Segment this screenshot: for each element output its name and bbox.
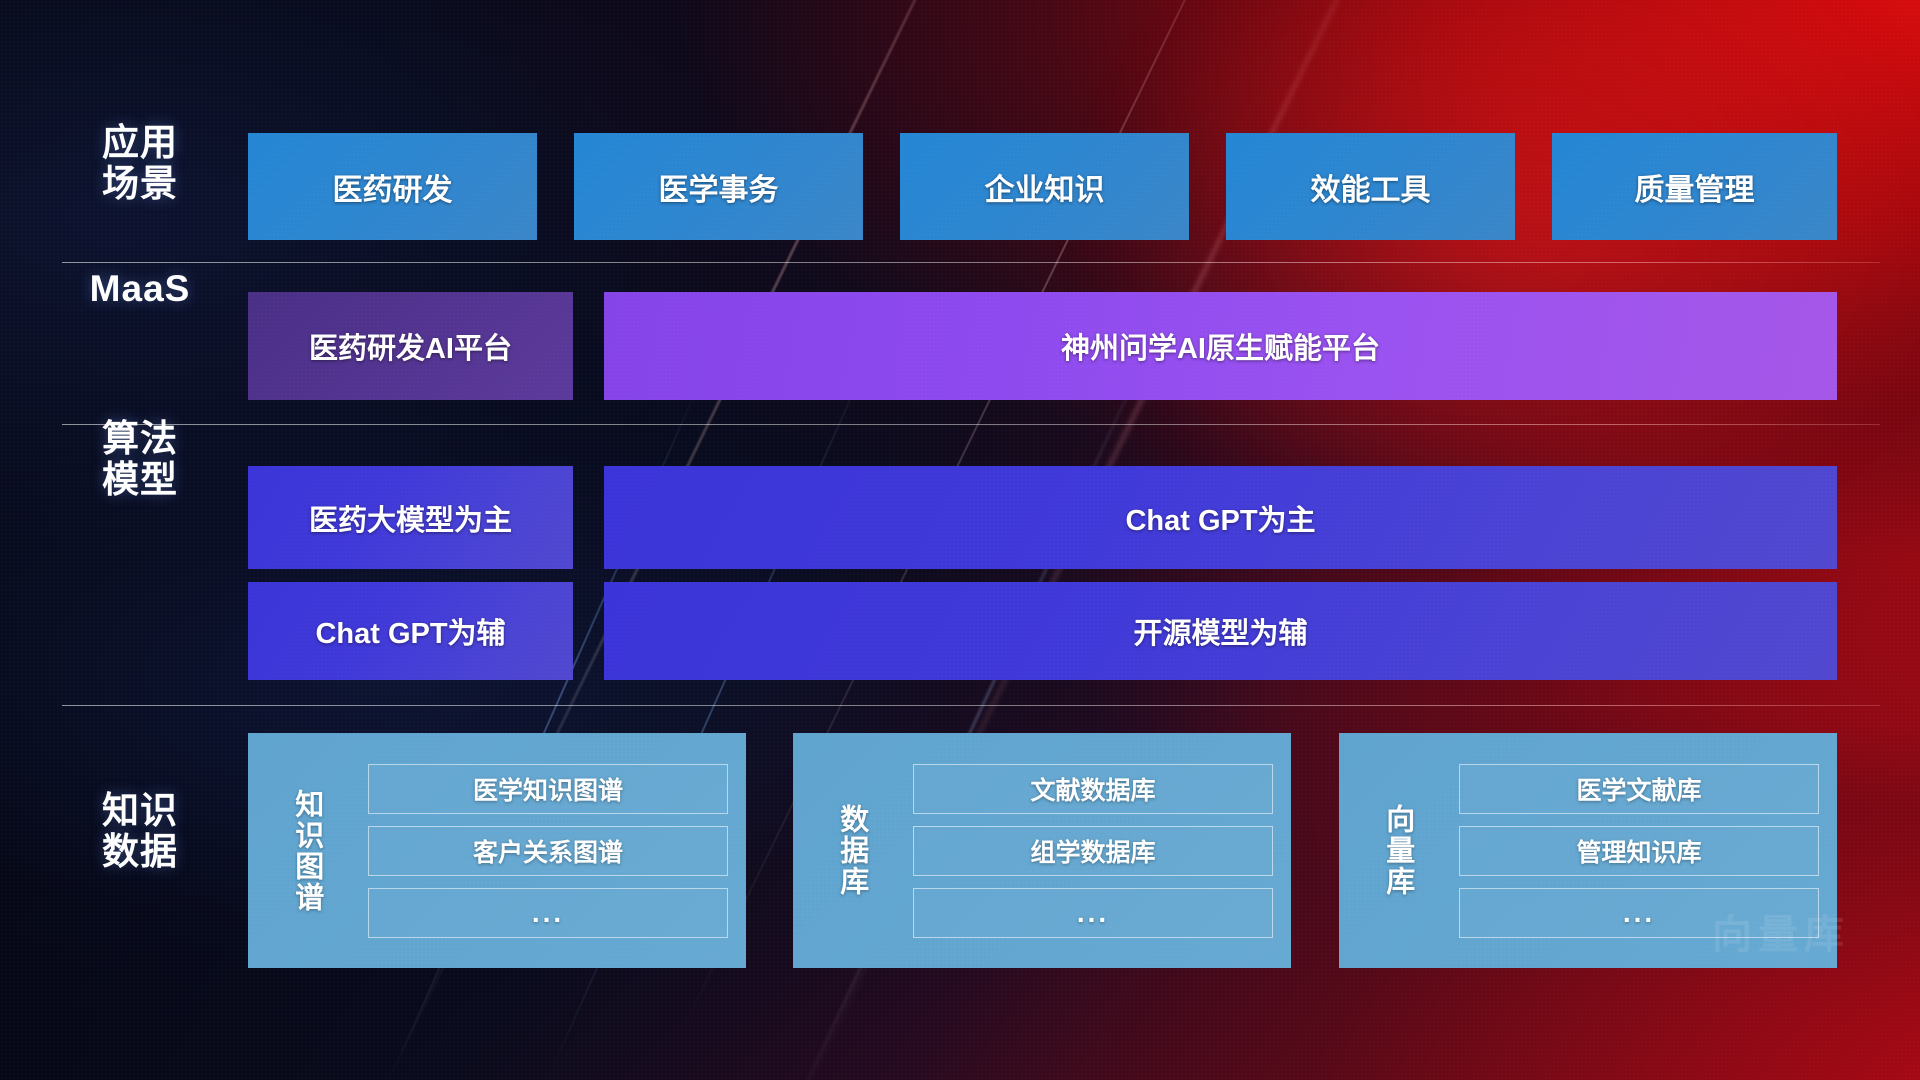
knowledge-item-label: 客户关系图谱 <box>473 833 623 869</box>
row-label-application-line2: 场景 <box>60 163 220 204</box>
algorithm-secondary-card-right[interactable]: 开源模型为辅 <box>604 582 1837 680</box>
knowledge-item-label: ... <box>1077 897 1109 929</box>
row-label-knowledge-line2: 数据 <box>60 831 220 872</box>
divider-application-maas <box>62 262 1880 263</box>
knowledge-group-1-title: 知识图谱 <box>248 733 364 968</box>
maas-platform-card-right[interactable]: 神州问学AI原生赋能平台 <box>604 292 1837 400</box>
algorithm-primary-card-left[interactable]: 医药大模型为主 <box>248 466 573 569</box>
knowledge-group-1-items: 医学知识图谱 客户关系图谱 ... <box>364 733 746 968</box>
knowledge-item[interactable]: 医学文献库 <box>1459 764 1819 814</box>
knowledge-group-3[interactable]: 向量库 医学文献库 管理知识库 ... <box>1339 733 1837 968</box>
knowledge-item[interactable]: 医学知识图谱 <box>368 764 728 814</box>
row-label-knowledge-line1: 知识 <box>60 790 220 831</box>
divider-maas-algorithm <box>62 424 1880 425</box>
row-label-maas: MaaS <box>60 268 220 309</box>
maas-platform-label-left: 医药研发AI平台 <box>309 325 512 367</box>
algorithm-primary-label-right: Chat GPT为主 <box>1125 497 1315 539</box>
row-label-knowledge: 知识 数据 <box>60 790 220 873</box>
algorithm-secondary-label-left: Chat GPT为辅 <box>315 610 505 652</box>
algorithm-primary-label-left: 医药大模型为主 <box>309 497 512 539</box>
app-scenario-card-4[interactable]: 效能工具 <box>1226 133 1515 240</box>
app-scenario-card-5[interactable]: 质量管理 <box>1552 133 1837 240</box>
knowledge-item-more[interactable]: ... <box>913 888 1273 938</box>
row-label-application-line1: 应用 <box>60 122 220 163</box>
knowledge-item-label: 组学数据库 <box>1030 833 1155 869</box>
knowledge-group-3-title: 向量库 <box>1339 733 1455 968</box>
row-label-maas-line1: MaaS <box>60 268 220 309</box>
algorithm-secondary-card-left[interactable]: Chat GPT为辅 <box>248 582 573 680</box>
app-scenario-label-1: 医药研发 <box>333 165 453 209</box>
knowledge-item-label: 医学知识图谱 <box>473 771 623 807</box>
algorithm-primary-card-right[interactable]: Chat GPT为主 <box>604 466 1837 569</box>
knowledge-group-2-items: 文献数据库 组学数据库 ... <box>909 733 1291 968</box>
algorithm-secondary-label-right: 开源模型为辅 <box>1133 610 1307 652</box>
knowledge-item[interactable]: 客户关系图谱 <box>368 826 728 876</box>
knowledge-item[interactable]: 管理知识库 <box>1459 826 1819 876</box>
knowledge-group-2[interactable]: 数据库 文献数据库 组学数据库 ... <box>793 733 1291 968</box>
maas-platform-card-left[interactable]: 医药研发AI平台 <box>248 292 573 400</box>
knowledge-group-3-items: 医学文献库 管理知识库 ... <box>1455 733 1837 968</box>
knowledge-item-label: ... <box>532 897 564 929</box>
architecture-diagram: 应用 场景 MaaS 算法 模型 知识 数据 医药研发 医学事务 企业知识 效能… <box>0 0 1920 1080</box>
row-label-algorithm: 算法 模型 <box>60 418 220 501</box>
app-scenario-label-3: 企业知识 <box>985 165 1105 209</box>
knowledge-item-more[interactable]: ... <box>1459 888 1819 938</box>
row-label-algorithm-line2: 模型 <box>60 459 220 500</box>
knowledge-item-label: ... <box>1623 897 1655 929</box>
row-label-application: 应用 场景 <box>60 122 220 205</box>
knowledge-item[interactable]: 文献数据库 <box>913 764 1273 814</box>
app-scenario-card-2[interactable]: 医学事务 <box>574 133 863 240</box>
knowledge-item-label: 管理知识库 <box>1576 833 1701 869</box>
maas-platform-label-right: 神州问学AI原生赋能平台 <box>1061 325 1380 367</box>
knowledge-item-label: 医学文献库 <box>1576 771 1701 807</box>
app-scenario-label-4: 效能工具 <box>1311 165 1431 209</box>
app-scenario-label-5: 质量管理 <box>1635 165 1755 209</box>
knowledge-item[interactable]: 组学数据库 <box>913 826 1273 876</box>
app-scenario-card-3[interactable]: 企业知识 <box>900 133 1189 240</box>
app-scenario-label-2: 医学事务 <box>659 165 779 209</box>
knowledge-item-more[interactable]: ... <box>368 888 728 938</box>
app-scenario-card-1[interactable]: 医药研发 <box>248 133 537 240</box>
knowledge-group-2-title: 数据库 <box>793 733 909 968</box>
divider-algorithm-knowledge <box>62 705 1880 706</box>
knowledge-item-label: 文献数据库 <box>1030 771 1155 807</box>
knowledge-group-1[interactable]: 知识图谱 医学知识图谱 客户关系图谱 ... <box>248 733 746 968</box>
